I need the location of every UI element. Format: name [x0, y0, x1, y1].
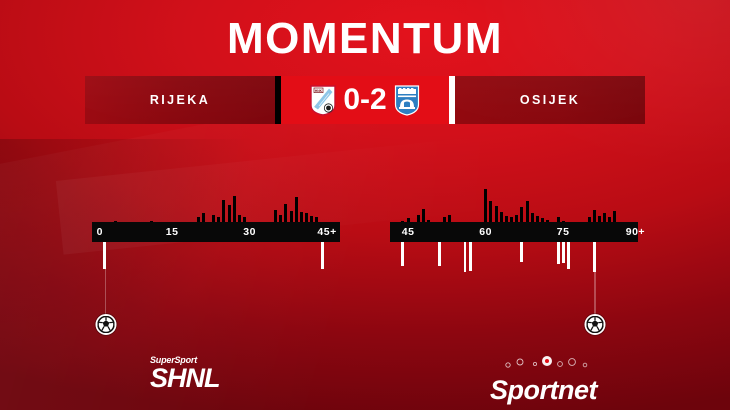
away-bars-first-half: [92, 242, 340, 300]
goal-connector-line: [105, 242, 107, 320]
momentum-bar-fill: [321, 242, 324, 269]
momentum-bar-fill: [562, 242, 565, 263]
rijeka-crest: HNK: [310, 85, 336, 116]
momentum-chart-first-half: 0153045+: [92, 160, 340, 360]
axis-tick-label: 30: [243, 222, 256, 242]
home-team-name: RIJEKA: [150, 93, 210, 107]
goal-connector-line: [594, 242, 596, 320]
momentum-bar-fill: [520, 242, 523, 262]
axis-tick-label: 75: [557, 222, 570, 242]
sportnet-logo: Sportnet: [490, 355, 600, 397]
supersport-hnl-logo-text: SHNL: [150, 365, 240, 391]
axis-second-half: 45607590+: [390, 222, 638, 242]
away-bars-second-half: [390, 242, 638, 300]
osijek-crest: [394, 85, 420, 116]
away-team-panel: OSIJEK: [455, 76, 645, 124]
momentum-bar-away: [400, 242, 405, 266]
scoreboard: RIJEKA HNK 0-2: [85, 76, 645, 124]
axis-first-half: 0153045+: [92, 222, 340, 242]
axis-tick-label: 0: [97, 222, 103, 242]
football-icon: [585, 314, 606, 335]
momentum-bar-away: [437, 242, 442, 266]
momentum-bar-fill: [469, 242, 472, 271]
momentum-bar-fill: [567, 242, 570, 269]
axis-tick-label: 45: [402, 222, 415, 242]
goal-marker-first-half: [105, 242, 107, 337]
momentum-bar-away: [468, 242, 473, 271]
momentum-bar-away: [566, 242, 571, 269]
axis-tick-label: 45+: [317, 222, 336, 242]
axis-tick-label: 60: [479, 222, 492, 242]
axis-tick-label: 15: [166, 222, 179, 242]
sportnet-bubbles-icon: [490, 355, 600, 371]
score-value: 0-2: [343, 85, 386, 115]
football-icon: [95, 314, 116, 335]
momentum-bar-away: [320, 242, 325, 269]
momentum-bar-away: [519, 242, 524, 262]
momentum-bar-fill: [401, 242, 404, 266]
momentum-bar-fill: [438, 242, 441, 266]
momentum-chart-second-half: 45607590+: [390, 160, 638, 360]
sportnet-logo-text: Sportnet: [490, 376, 600, 404]
momentum-bar-fill: [557, 242, 560, 264]
score-panel: HNK 0-2: [281, 76, 449, 124]
momentum-bar-fill: [464, 242, 467, 272]
goal-marker-second-half: [594, 242, 596, 337]
momentum-graphic: MOMENTUM RIJEKA HNK 0-2: [0, 0, 730, 410]
home-team-panel: RIJEKA: [85, 76, 275, 124]
axis-tick-label: 90+: [626, 222, 645, 242]
page-title: MOMENTUM: [0, 16, 730, 62]
supersport-hnl-logo: SuperSport SHNL: [150, 355, 240, 395]
svg-text:HNK: HNK: [315, 88, 323, 92]
away-team-name: OSIJEK: [520, 93, 580, 107]
